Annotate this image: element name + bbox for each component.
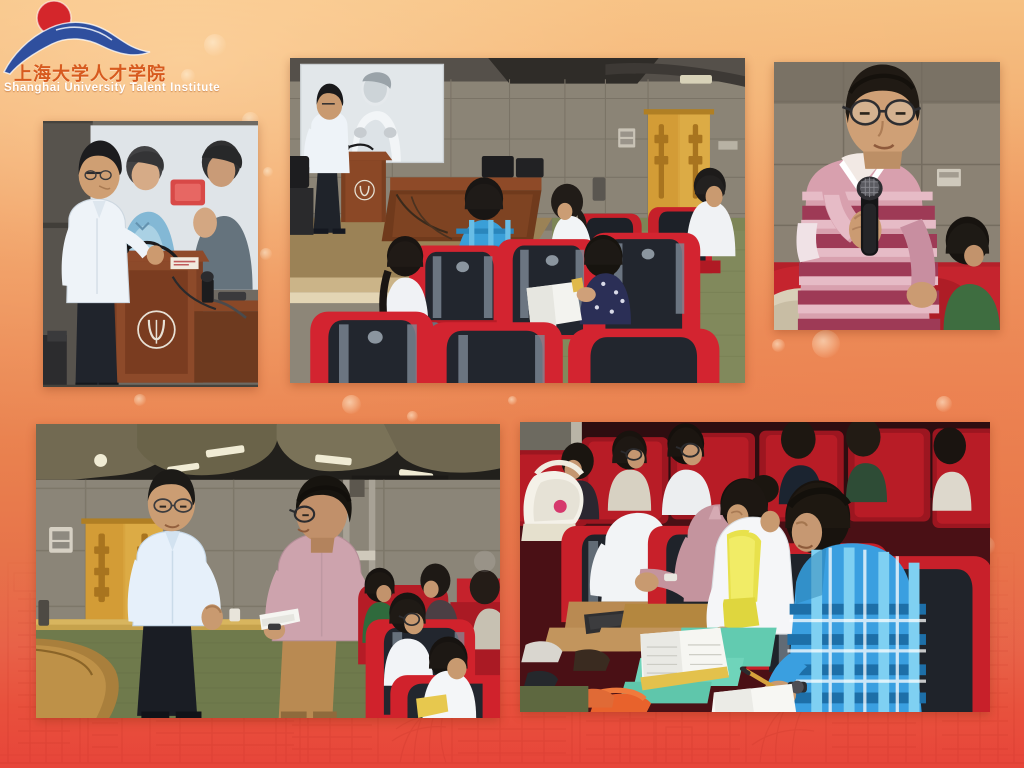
photo-student-asking-question-image bbox=[774, 62, 1000, 330]
photo-audience-taking-notes-image bbox=[520, 422, 990, 712]
photo-speaker-talking-with-student-image bbox=[36, 424, 500, 718]
photo-lecture-hall-wide-image bbox=[290, 58, 745, 383]
photo-audience-taking-notes[interactable] bbox=[520, 422, 990, 712]
photo-speaker-at-podium[interactable] bbox=[43, 121, 258, 387]
photo-student-asking-question[interactable] bbox=[774, 62, 1000, 330]
photo-speaker-at-podium-image bbox=[43, 121, 258, 387]
photo-speaker-talking-with-student[interactable] bbox=[36, 424, 500, 718]
collage-canvas: 上海大学人才学院 Shanghai University Talent Inst… bbox=[0, 0, 1024, 768]
photo-lecture-hall-wide[interactable] bbox=[290, 58, 745, 383]
